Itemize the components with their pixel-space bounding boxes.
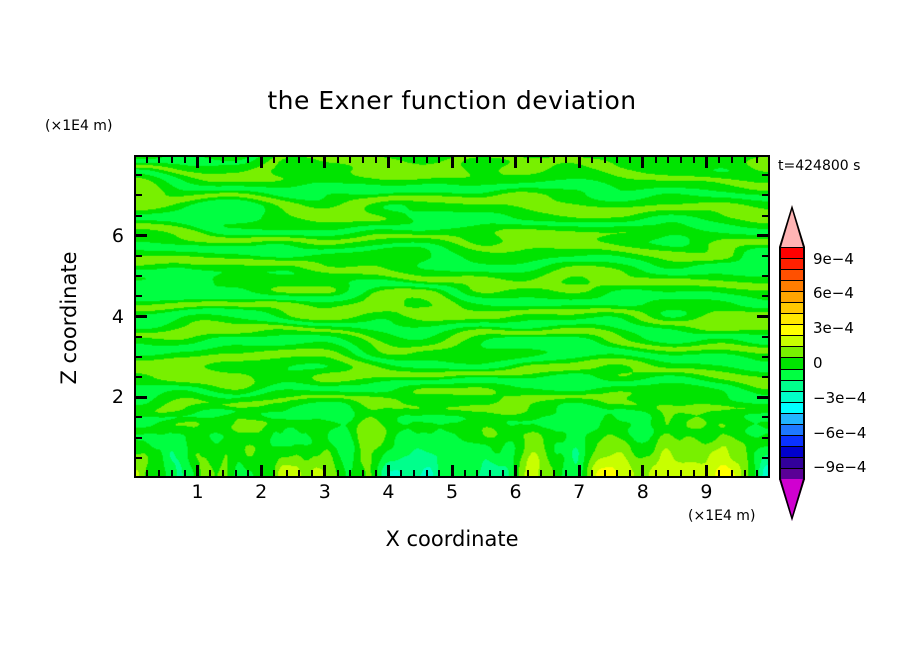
y-minor-tick — [136, 194, 142, 196]
y-minor-tick — [762, 356, 768, 358]
x-minor-tick — [311, 470, 313, 476]
colorbar-band — [779, 380, 805, 392]
x-major-tick — [260, 157, 263, 168]
colorbar-tick-label: −6e−4 — [813, 424, 866, 442]
y-minor-tick — [762, 255, 768, 257]
x-minor-tick — [311, 157, 313, 163]
x-minor-tick — [298, 157, 300, 163]
x-minor-tick — [273, 470, 275, 476]
y-major-tick — [757, 234, 768, 237]
x-major-tick — [260, 465, 263, 476]
y-major-tick — [136, 315, 147, 318]
x-minor-tick — [489, 470, 491, 476]
colorbar-band — [779, 313, 805, 325]
colorbar-band — [779, 258, 805, 270]
x-minor-tick — [553, 157, 555, 163]
contour-plot-area[interactable] — [134, 155, 770, 478]
y-minor-tick — [136, 376, 142, 378]
y-minor-tick — [762, 457, 768, 459]
colorbar-level-line — [779, 357, 805, 358]
x-minor-tick — [158, 470, 160, 476]
contour-field — [136, 157, 768, 476]
colorbar-band — [779, 402, 805, 414]
colorbar-level-line — [779, 313, 805, 314]
x-major-tick — [451, 157, 454, 168]
x-minor-tick — [540, 470, 542, 476]
x-minor-tick — [718, 470, 720, 476]
x-minor-tick — [413, 470, 415, 476]
x-minor-tick — [426, 157, 428, 163]
time-annotation: t=424800 s — [778, 158, 860, 174]
y-major-tick — [136, 234, 147, 237]
y-major-tick — [757, 396, 768, 399]
x-minor-tick — [604, 470, 606, 476]
x-minor-tick — [489, 157, 491, 163]
x-minor-tick — [375, 470, 377, 476]
y-minor-tick — [762, 376, 768, 378]
x-major-tick — [641, 465, 644, 476]
x-tick-label: 2 — [255, 481, 267, 503]
colorbar-level-line — [779, 346, 805, 347]
x-minor-tick — [527, 470, 529, 476]
x-minor-tick — [731, 157, 733, 163]
colorbar-band — [779, 468, 805, 480]
x-minor-tick — [209, 157, 211, 163]
x-minor-tick — [616, 470, 618, 476]
x-minor-tick — [756, 157, 758, 163]
x-minor-tick — [464, 157, 466, 163]
colorbar-band — [779, 346, 805, 358]
x-tick-label: 1 — [192, 481, 204, 503]
y-minor-tick — [762, 295, 768, 297]
colorbar-level-line — [779, 302, 805, 303]
x-minor-tick — [286, 157, 288, 163]
x-tick-label: 7 — [573, 481, 585, 503]
x-major-tick — [451, 465, 454, 476]
x-tick-label: 8 — [637, 481, 649, 503]
colorbar-band — [779, 435, 805, 447]
y-minor-tick — [762, 215, 768, 217]
colorbar-band — [779, 457, 805, 469]
colorbar-level-line — [779, 468, 805, 469]
colorbar-tick-label: 0 — [813, 354, 823, 372]
x-minor-tick — [693, 157, 695, 163]
colorbar-band — [779, 302, 805, 314]
x-major-tick — [323, 157, 326, 168]
y-axis-label: Z coordinate — [57, 228, 81, 408]
x-minor-tick — [476, 157, 478, 163]
y-minor-tick — [136, 356, 142, 358]
x-minor-tick — [146, 157, 148, 163]
x-minor-tick — [744, 470, 746, 476]
y-tick-label: 2 — [100, 386, 124, 408]
colorbar-level-line — [779, 369, 805, 370]
y-minor-tick — [762, 275, 768, 277]
x-minor-tick — [286, 470, 288, 476]
y-tick-label: 4 — [100, 306, 124, 328]
x-major-tick — [641, 157, 644, 168]
colorbar-tick-label: −9e−4 — [813, 458, 866, 476]
y-axis-unit-label: (×1E4 m) — [45, 118, 112, 134]
x-minor-tick — [184, 470, 186, 476]
x-minor-tick — [349, 470, 351, 476]
colorbar-level-line — [779, 435, 805, 436]
x-major-tick — [514, 465, 517, 476]
x-minor-tick — [171, 470, 173, 476]
colorbar-level-line — [779, 335, 805, 336]
x-minor-tick — [146, 470, 148, 476]
y-minor-tick — [762, 416, 768, 418]
x-minor-tick — [667, 157, 669, 163]
x-minor-tick — [565, 157, 567, 163]
x-minor-tick — [553, 470, 555, 476]
x-minor-tick — [349, 157, 351, 163]
x-tick-label: 3 — [319, 481, 331, 503]
x-major-tick — [705, 465, 708, 476]
x-minor-tick — [655, 157, 657, 163]
x-major-tick — [196, 465, 199, 476]
colorbar-level-line — [779, 457, 805, 458]
y-minor-tick — [136, 457, 142, 459]
x-minor-tick — [718, 157, 720, 163]
x-minor-tick — [184, 157, 186, 163]
x-minor-tick — [655, 470, 657, 476]
x-minor-tick — [591, 157, 593, 163]
x-minor-tick — [413, 157, 415, 163]
x-minor-tick — [247, 470, 249, 476]
x-tick-label: 4 — [382, 481, 394, 503]
colorbar-band — [779, 291, 805, 303]
colorbar-tick-label: 6e−4 — [813, 284, 854, 302]
page-title: the Exner function deviation — [0, 86, 904, 115]
x-minor-tick — [540, 157, 542, 163]
x-minor-tick — [400, 157, 402, 163]
x-minor-tick — [298, 470, 300, 476]
x-minor-tick — [604, 157, 606, 163]
x-tick-label: 6 — [510, 481, 522, 503]
x-tick-label: 5 — [446, 481, 458, 503]
x-major-tick — [578, 465, 581, 476]
y-major-tick — [136, 396, 147, 399]
x-minor-tick — [629, 157, 631, 163]
x-minor-tick — [337, 157, 339, 163]
colorbar[interactable] — [779, 205, 805, 521]
x-minor-tick — [502, 157, 504, 163]
contour-field-canvas — [136, 157, 768, 476]
y-minor-tick — [136, 174, 142, 176]
x-minor-tick — [362, 470, 364, 476]
x-minor-tick — [438, 470, 440, 476]
colorbar-band — [779, 391, 805, 403]
x-minor-tick — [667, 470, 669, 476]
y-minor-tick — [762, 174, 768, 176]
x-minor-tick — [693, 470, 695, 476]
x-minor-tick — [680, 470, 682, 476]
x-minor-tick — [565, 470, 567, 476]
y-minor-tick — [136, 255, 142, 257]
colorbar-level-line — [779, 380, 805, 381]
colorbar-level-line — [779, 269, 805, 270]
colorbar-level-line — [779, 280, 805, 281]
colorbar-band — [779, 357, 805, 369]
x-major-tick — [196, 157, 199, 168]
x-minor-tick — [616, 157, 618, 163]
colorbar-band — [779, 413, 805, 425]
x-minor-tick — [375, 157, 377, 163]
x-minor-tick — [247, 157, 249, 163]
x-major-tick — [514, 157, 517, 168]
x-minor-tick — [400, 470, 402, 476]
x-minor-tick — [591, 470, 593, 476]
x-minor-tick — [731, 470, 733, 476]
x-minor-tick — [502, 470, 504, 476]
colorbar-band — [779, 369, 805, 381]
x-minor-tick — [235, 470, 237, 476]
y-minor-tick — [136, 275, 142, 277]
x-minor-tick — [171, 157, 173, 163]
colorbar-band — [779, 335, 805, 347]
x-minor-tick — [235, 157, 237, 163]
x-tick-label: 9 — [700, 481, 712, 503]
y-minor-tick — [762, 437, 768, 439]
colorbar-band — [779, 247, 805, 259]
colorbar-band — [779, 446, 805, 458]
y-minor-tick — [762, 336, 768, 338]
colorbar-level-line — [779, 247, 805, 248]
colorbar-level-line — [779, 402, 805, 403]
y-minor-tick — [762, 194, 768, 196]
colorbar-level-line — [779, 391, 805, 392]
colorbar-level-line — [779, 446, 805, 447]
colorbar-level-line — [779, 291, 805, 292]
x-minor-tick — [438, 157, 440, 163]
x-minor-tick — [680, 157, 682, 163]
y-minor-tick — [136, 215, 142, 217]
colorbar-level-line — [779, 413, 805, 414]
x-minor-tick — [222, 157, 224, 163]
x-minor-tick — [222, 470, 224, 476]
x-minor-tick — [158, 157, 160, 163]
y-major-tick — [757, 315, 768, 318]
colorbar-band — [779, 280, 805, 292]
x-minor-tick — [337, 470, 339, 476]
y-minor-tick — [136, 295, 142, 297]
x-axis-unit-label: (×1E4 m) — [688, 508, 755, 524]
x-major-tick — [387, 157, 390, 168]
x-major-tick — [387, 465, 390, 476]
x-minor-tick — [273, 157, 275, 163]
x-major-tick — [323, 465, 326, 476]
y-minor-tick — [136, 416, 142, 418]
colorbar-band — [779, 324, 805, 336]
colorbar-tick-label: 3e−4 — [813, 319, 854, 337]
x-minor-tick — [629, 470, 631, 476]
colorbar-tick-label: −3e−4 — [813, 389, 866, 407]
x-axis-label: X coordinate — [0, 527, 904, 551]
colorbar-band — [779, 424, 805, 436]
colorbar-tick-label: 9e−4 — [813, 250, 854, 268]
y-minor-tick — [136, 437, 142, 439]
y-minor-tick — [136, 336, 142, 338]
colorbar-level-line — [779, 324, 805, 325]
x-minor-tick — [426, 470, 428, 476]
x-major-tick — [705, 157, 708, 168]
x-minor-tick — [744, 157, 746, 163]
x-minor-tick — [362, 157, 364, 163]
x-minor-tick — [756, 470, 758, 476]
colorbar-level-line — [779, 258, 805, 259]
x-minor-tick — [209, 470, 211, 476]
x-minor-tick — [527, 157, 529, 163]
x-minor-tick — [464, 470, 466, 476]
colorbar-band — [779, 269, 805, 281]
x-major-tick — [578, 157, 581, 168]
x-minor-tick — [476, 470, 478, 476]
colorbar-level-line — [779, 424, 805, 425]
y-tick-label: 6 — [100, 225, 124, 247]
